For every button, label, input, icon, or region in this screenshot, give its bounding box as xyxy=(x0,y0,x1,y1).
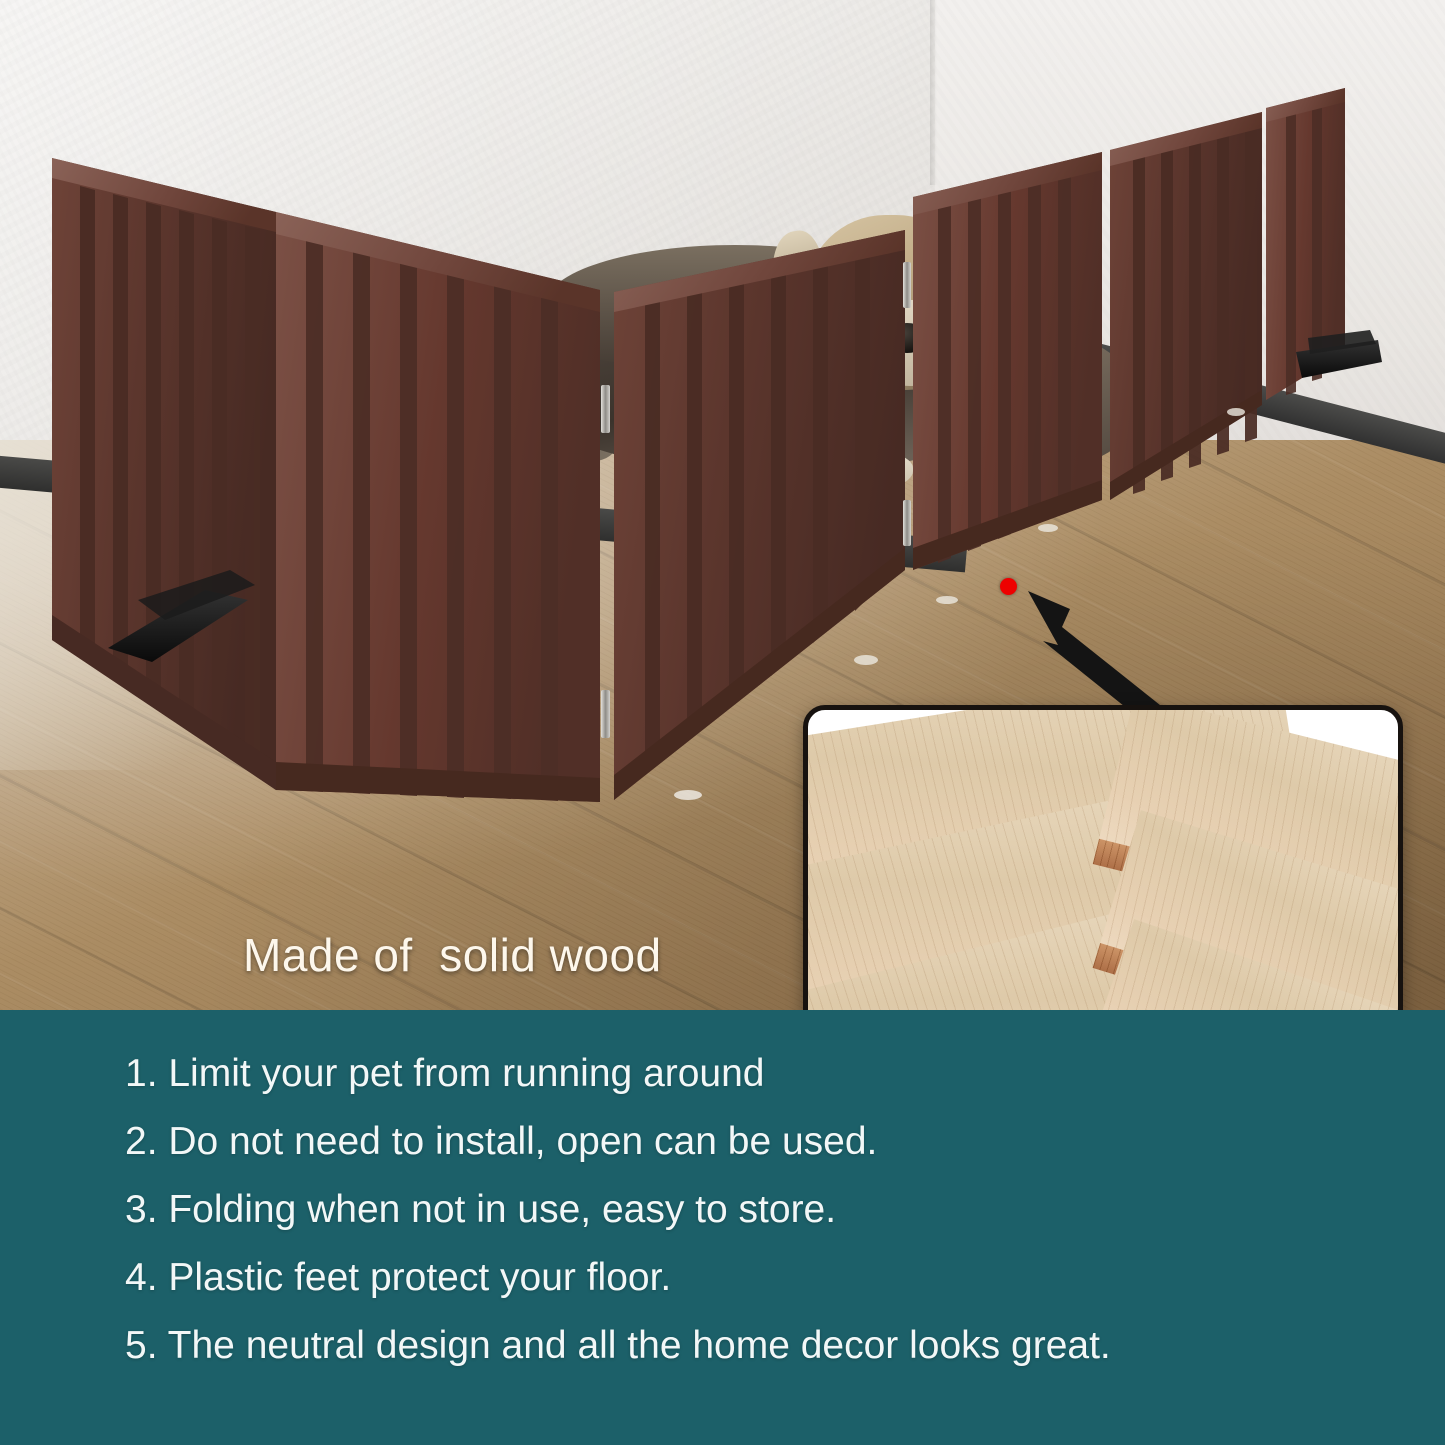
gate-hinge xyxy=(601,690,610,738)
floor-glide xyxy=(1227,408,1245,416)
solid-wood-inset xyxy=(803,705,1403,1010)
gate-hinge xyxy=(903,262,911,308)
gate-panel-2 xyxy=(276,212,600,802)
product-marketing-image: Made of solid wood 1. Limit your pet fro… xyxy=(0,0,1445,1445)
feature-item-5: 5. The neutral design and all the home d… xyxy=(125,1312,1425,1380)
made-of-solid-wood-caption: Made of solid wood xyxy=(243,928,662,982)
floor-glide xyxy=(1038,524,1058,532)
gate-panel-4 xyxy=(913,152,1102,570)
feature-item-2: 2. Do not need to install, open can be u… xyxy=(125,1108,1425,1176)
gate-panel-1 xyxy=(52,158,276,790)
floor-glide xyxy=(936,596,958,604)
feature-item-3: 3. Folding when not in use, easy to stor… xyxy=(125,1176,1425,1244)
gate-hinge xyxy=(903,500,911,546)
product-photo: Made of solid wood xyxy=(0,0,1445,1010)
callout-arrow xyxy=(1000,585,1430,725)
gate-panel-5 xyxy=(1110,112,1262,500)
feature-item-4: 4. Plastic feet protect your floor. xyxy=(125,1244,1425,1312)
callout-target-dot xyxy=(1000,578,1017,595)
floor-glide xyxy=(854,655,878,665)
floor-glide xyxy=(674,790,702,800)
feature-item-1: 1. Limit your pet from running around xyxy=(125,1040,1425,1108)
gate-hinge xyxy=(601,385,610,433)
features-list: 1. Limit your pet from running around 2.… xyxy=(125,1040,1425,1380)
